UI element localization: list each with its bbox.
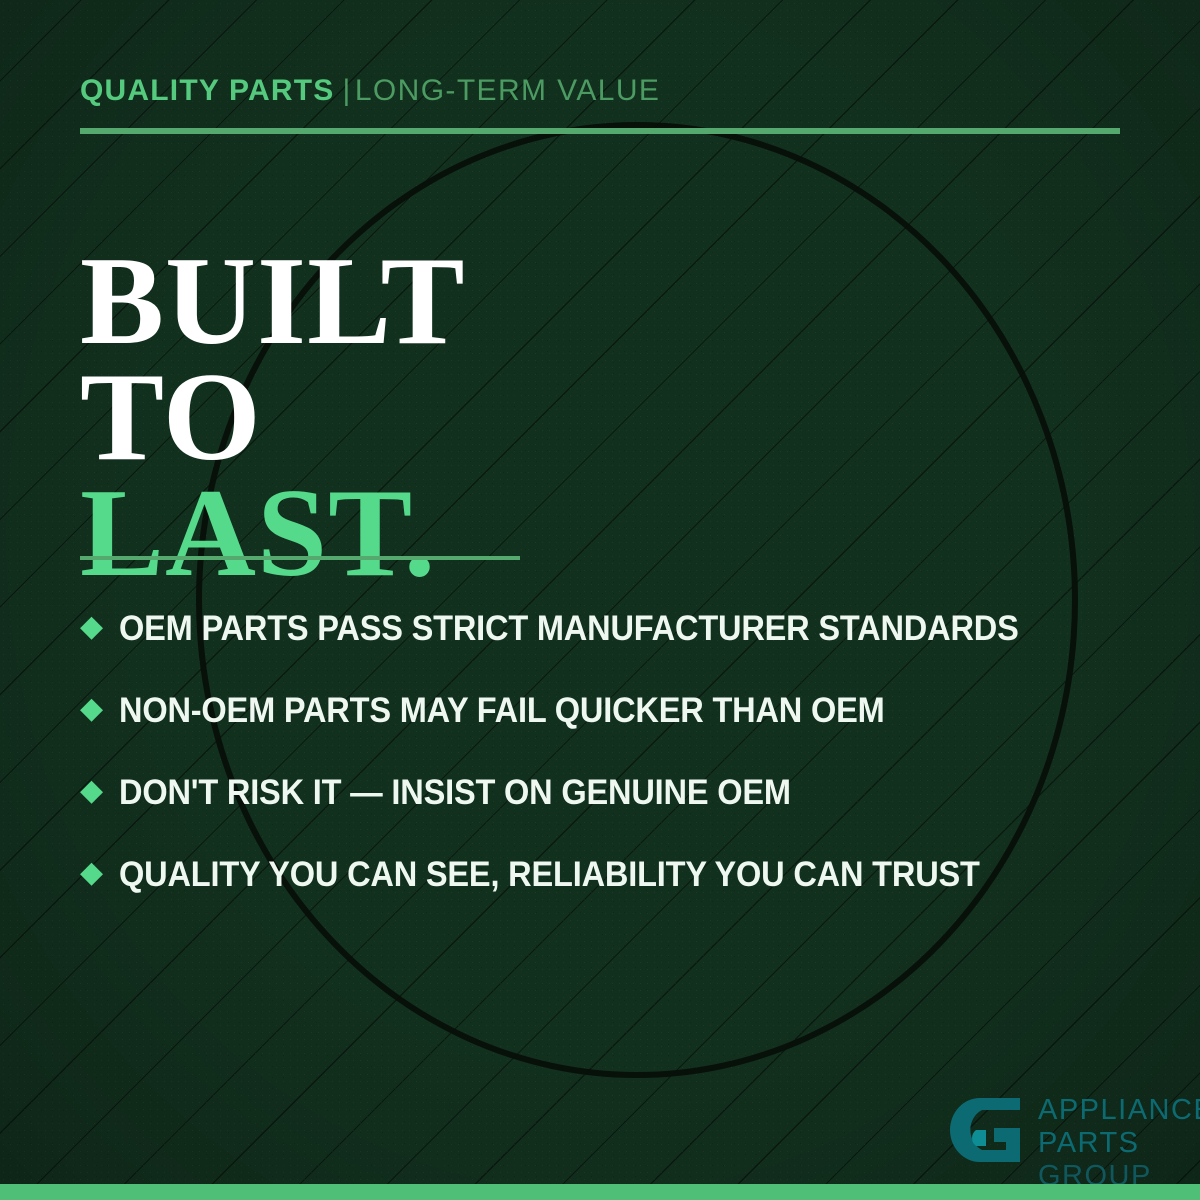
brand-line-1: APPLIANCE — [1038, 1094, 1200, 1127]
eyebrow-separator: | — [335, 74, 355, 107]
diamond-icon: ◆ — [80, 858, 103, 888]
eyebrow-light-text: LONG-TERM VALUE — [355, 74, 661, 107]
diamond-icon: ◆ — [80, 694, 103, 724]
eyebrow: QUALITY PARTS|LONG-TERM VALUE — [80, 74, 660, 108]
benefit-list: ◆ OEM PARTS PASS STRICT MANUFACTURER STA… — [80, 588, 1140, 916]
eyebrow-strong-text: QUALITY PARTS — [80, 74, 335, 107]
bottom-accent-bar — [0, 1184, 1200, 1200]
list-item: ◆ OEM PARTS PASS STRICT MANUFACTURER STA… — [80, 588, 1140, 670]
diamond-icon: ◆ — [80, 776, 103, 806]
headline-line-1: BUILT — [80, 244, 780, 360]
brand-line-2: PARTS — [1038, 1127, 1200, 1160]
headline-line-2: TO — [80, 360, 780, 476]
poster-content: QUALITY PARTS|LONG-TERM VALUE BUILT TO L… — [0, 0, 1200, 1200]
headline-line-3: LAST. — [80, 476, 780, 592]
brand-wordmark: APPLIANCE PARTS GROUP — [1038, 1092, 1200, 1193]
divider-top — [80, 128, 1120, 134]
list-item-label: QUALITY YOU CAN SEE, RELIABILITY YOU CAN… — [119, 855, 980, 895]
list-item: ◆ NON-OEM PARTS MAY FAIL QUICKER THAN OE… — [80, 670, 1140, 752]
poster-canvas: QUALITY PARTS|LONG-TERM VALUE BUILT TO L… — [0, 0, 1200, 1200]
page-title: BUILT TO LAST. — [80, 244, 780, 592]
list-item: ◆ DON'T RISK IT — INSIST ON GENUINE OEM — [80, 752, 1140, 834]
list-item-label: DON'T RISK IT — INSIST ON GENUINE OEM — [119, 773, 791, 813]
list-item-label: OEM PARTS PASS STRICT MANUFACTURER STAND… — [119, 609, 1019, 649]
list-item: ◆ QUALITY YOU CAN SEE, RELIABILITY YOU C… — [80, 834, 1140, 916]
g-monogram-icon — [946, 1092, 1024, 1180]
divider-sub — [80, 556, 520, 560]
diamond-icon: ◆ — [80, 612, 103, 642]
brand-logo: APPLIANCE PARTS GROUP — [946, 1092, 1200, 1193]
list-item-label: NON-OEM PARTS MAY FAIL QUICKER THAN OEM — [119, 691, 885, 731]
